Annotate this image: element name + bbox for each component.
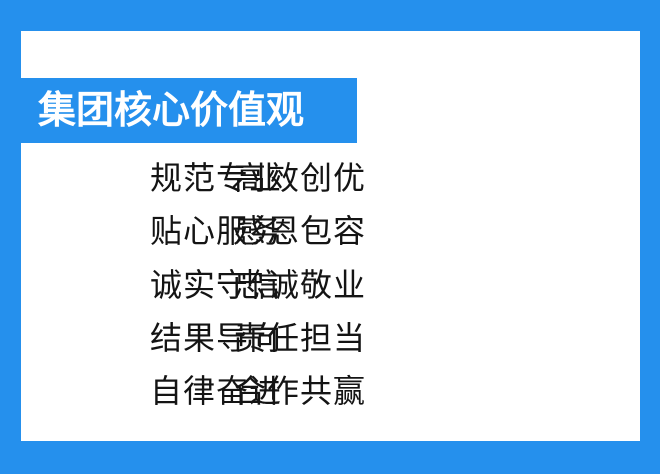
- page-title: 集团核心价值观: [38, 92, 304, 130]
- value-item-right: 责任担当: [234, 317, 366, 359]
- value-item-left: 诚实守信: [21, 264, 234, 306]
- title-banner: 集团核心价值观: [0, 78, 357, 143]
- value-row: 规范专业 高效创优: [21, 157, 640, 199]
- value-item-left: 结果导向: [21, 317, 234, 359]
- value-item-right: 合作共赢: [234, 370, 366, 412]
- value-item-left: 贴心服务: [21, 210, 234, 252]
- value-item-right: 感恩包容: [234, 210, 366, 252]
- value-item-left: 规范专业: [21, 157, 234, 199]
- value-row: 诚实守信 忠诚敬业: [21, 264, 640, 306]
- value-row: 贴心服务 感恩包容: [21, 210, 640, 252]
- core-values-list: 规范专业 高效创优 贴心服务 感恩包容 诚实守信 忠诚敬业 结果导向 责任担当 …: [21, 157, 640, 412]
- value-item-right: 高效创优: [234, 157, 366, 199]
- value-item-right: 忠诚敬业: [234, 264, 366, 306]
- slide-canvas: 集团核心价值观 规范专业 高效创优 贴心服务 感恩包容 诚实守信 忠诚敬业 结果…: [0, 0, 660, 474]
- value-item-left: 自律奋进: [21, 370, 234, 412]
- value-row: 结果导向 责任担当: [21, 317, 640, 359]
- value-row: 自律奋进 合作共赢: [21, 370, 640, 412]
